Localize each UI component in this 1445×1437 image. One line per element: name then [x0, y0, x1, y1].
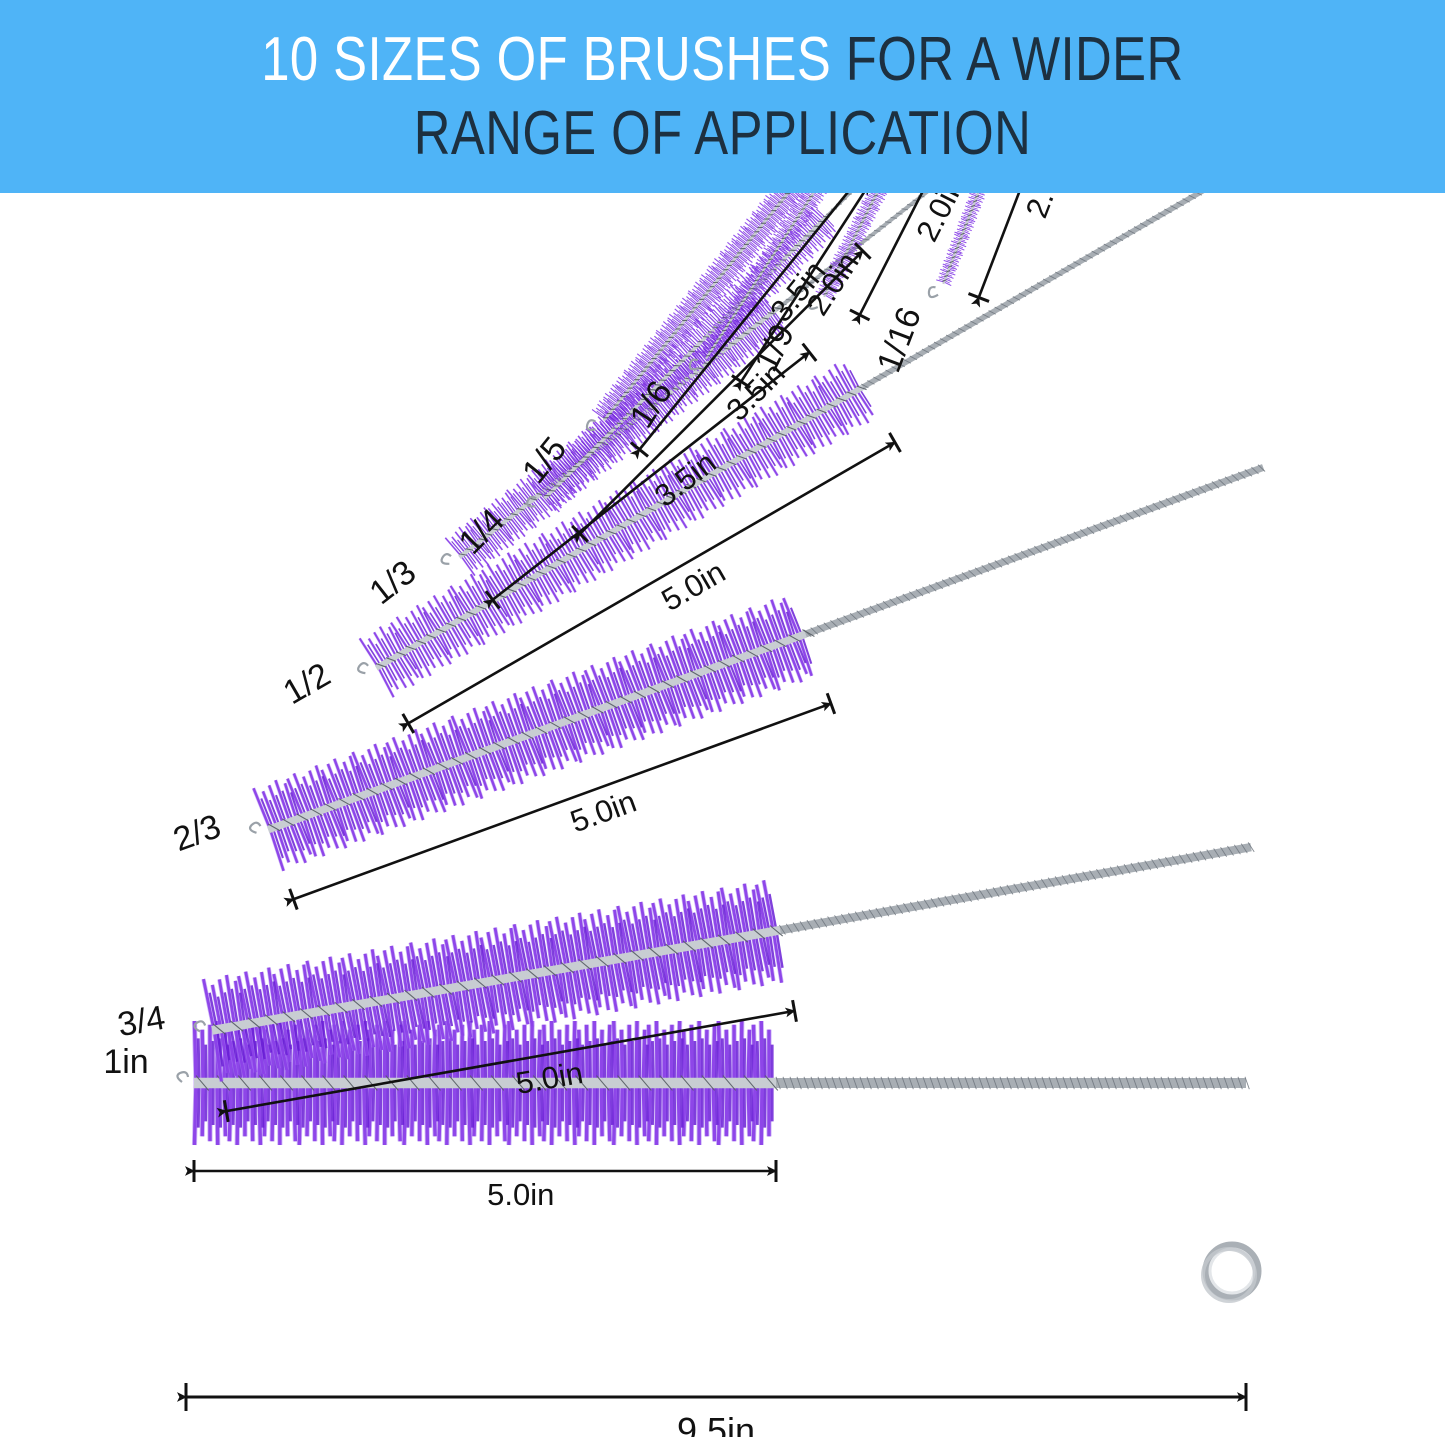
- dimension-total-length: 9.5in: [186, 1383, 1246, 1437]
- handle-wire: [802, 467, 1263, 635]
- dimension-label: 5.0in: [655, 554, 731, 618]
- bristles-down-dark: [272, 635, 813, 858]
- brush-core-wire: [194, 1076, 778, 1091]
- dimension-label: 5.0in: [487, 1177, 554, 1212]
- size-label: 1/3: [363, 553, 424, 612]
- header-title-rest: FOR A WIDER: [831, 25, 1183, 94]
- witness-start: [850, 310, 870, 320]
- brush-core-wire: [266, 627, 814, 835]
- size-label: 2/3: [168, 807, 225, 859]
- header-title-highlight: 10 SIZES OF BRUSHES: [261, 25, 831, 94]
- size-label: 1/2: [277, 656, 337, 713]
- brush-1-16: [927, 193, 1351, 302]
- header-line-2: RANGE OF APPLICATION: [414, 97, 1031, 171]
- brush-handle: [800, 463, 1265, 639]
- bristles-up-dark: [261, 606, 802, 829]
- brush-handle: [775, 842, 1254, 936]
- brush-1-9: [807, 193, 1335, 316]
- size-label: 1/4: [452, 502, 512, 562]
- size-label: 3/4: [115, 999, 168, 1045]
- brush-1-3: [432, 193, 1308, 586]
- dimension-label: 5.0in: [566, 784, 641, 840]
- core-line: [268, 634, 806, 830]
- brush-tip-loop: [177, 1072, 188, 1082]
- total-length-label: 9.5in: [677, 1410, 755, 1437]
- brush-tip-loop: [356, 662, 370, 676]
- brush-handle: [772, 1077, 1249, 1089]
- brush-tip-loop: [927, 286, 940, 299]
- size-label: 1/16: [870, 302, 929, 377]
- handle-gather-ring: [1203, 1245, 1258, 1301]
- size-label: 1in: [103, 1043, 148, 1081]
- brush-fan-diagram: 5.0in1in5.0in3/45.0in2/35.0in1/23.5in1/3…: [0, 193, 1445, 1437]
- header-line-1: 10 SIZES OF BRUSHES FOR A WIDER: [261, 23, 1183, 97]
- witness-start: [403, 714, 414, 733]
- brush-tip-loop: [249, 821, 262, 834]
- brush-tip-loop: [440, 552, 454, 566]
- dimension-line: [293, 704, 831, 900]
- size-label: 1/5: [515, 430, 574, 491]
- header-banner: 10 SIZES OF BRUSHES FOR A WIDER RANGE OF…: [0, 0, 1445, 193]
- handle-wire: [776, 847, 1251, 931]
- dimension-label: 2.0in: [1019, 193, 1076, 222]
